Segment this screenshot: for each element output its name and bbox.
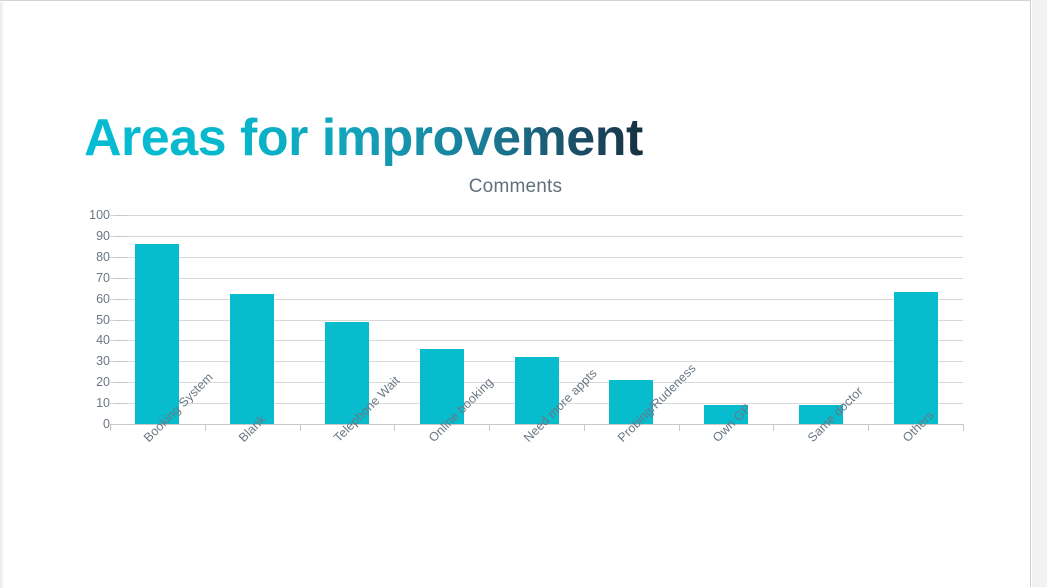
y-axis-tick-mark <box>114 340 127 341</box>
y-axis-tick-mark <box>114 257 127 258</box>
y-axis-tick-label: 100 <box>76 209 110 221</box>
y-axis-tick-label: 70 <box>76 272 110 284</box>
y-axis-tick-mark <box>114 320 127 321</box>
y-axis-tick-label: 80 <box>76 251 110 263</box>
y-axis-tick-label: 30 <box>76 355 110 367</box>
y-axis-tick-label: 60 <box>76 293 110 305</box>
bar <box>135 244 179 424</box>
y-axis-tick-label: 90 <box>76 230 110 242</box>
x-axis-tick-mark <box>773 424 774 431</box>
x-axis-tick-mark <box>679 424 680 431</box>
y-axis-tick-label: 0 <box>76 418 110 430</box>
y-axis-tick-mark <box>114 215 127 216</box>
y-axis-tick-mark <box>114 236 127 237</box>
x-axis-tick-mark <box>489 424 490 431</box>
y-axis-tick-label: 50 <box>76 314 110 326</box>
y-axis-tick-label: 40 <box>76 334 110 346</box>
x-axis-tick-mark <box>205 424 206 431</box>
y-axis-tick-mark <box>114 424 127 425</box>
y-axis-tick-mark <box>114 382 127 383</box>
y-axis: 1009080706050403020100 <box>76 215 110 424</box>
x-axis-tick-mark <box>963 424 964 431</box>
y-axis-tick-mark <box>114 299 127 300</box>
slide-right-gutter <box>1032 0 1047 587</box>
y-axis-tick-label: 20 <box>76 376 110 388</box>
y-axis-tick-label: 10 <box>76 397 110 409</box>
x-axis-tick-mark <box>394 424 395 431</box>
chart-title: Comments <box>0 176 1031 198</box>
x-axis-tick-mark <box>300 424 301 431</box>
x-axis-tick-mark <box>110 424 111 431</box>
slide-frame: Areas for improvement Comments 100908070… <box>0 0 1031 587</box>
bar <box>230 294 274 424</box>
y-axis-tick-mark <box>114 278 127 279</box>
bar-chart: Comments 1009080706050403020100 Booking … <box>0 1 1031 588</box>
x-axis-tick-mark <box>584 424 585 431</box>
y-axis-tick-mark <box>114 403 127 404</box>
x-axis-tick-mark <box>868 424 869 431</box>
bar-series <box>110 215 963 424</box>
bar <box>894 292 938 424</box>
y-axis-tick-mark <box>114 361 127 362</box>
